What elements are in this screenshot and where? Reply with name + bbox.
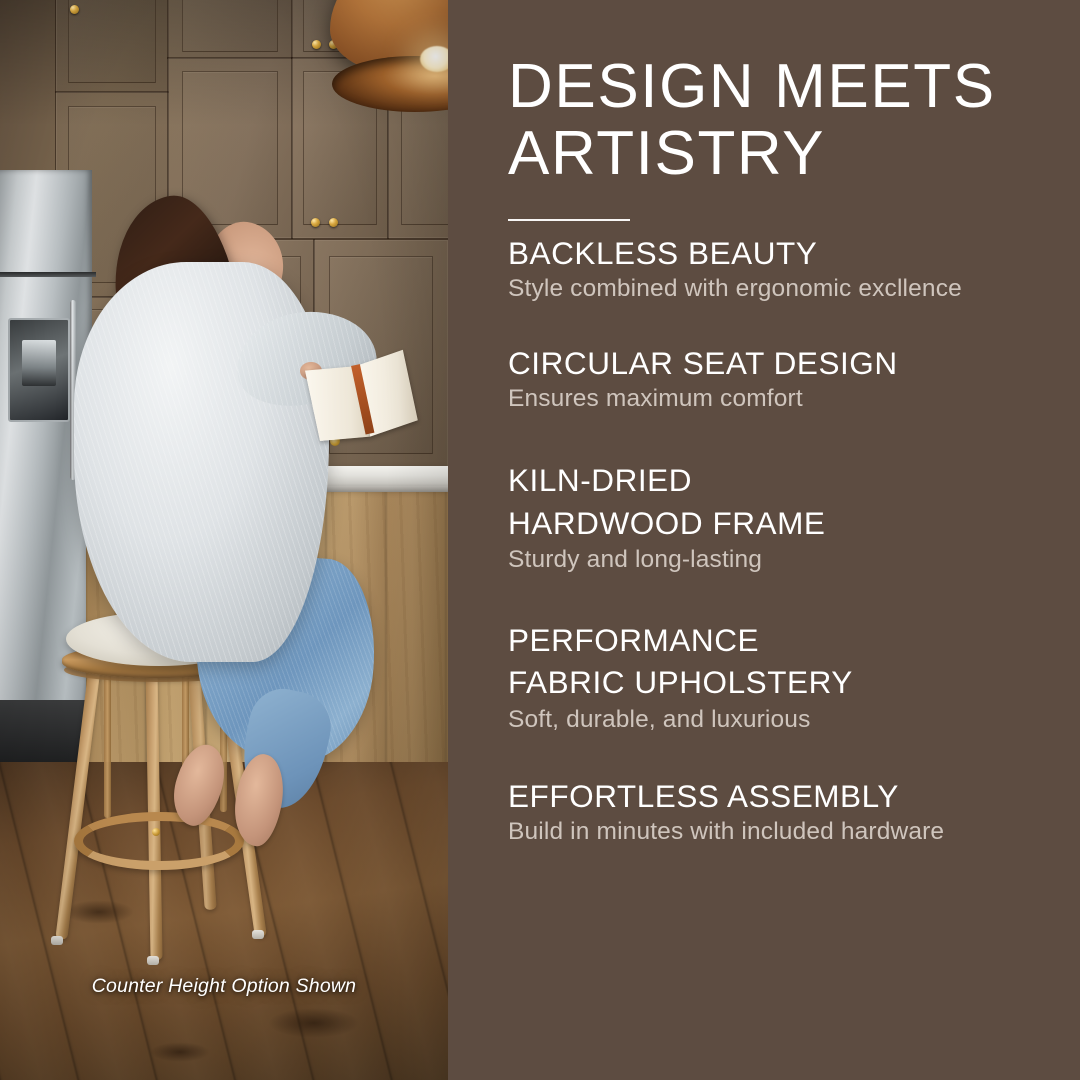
feature-item-effortless-assembly: EFFORTLESS ASSEMBLY Build in minutes wit… [508, 778, 1036, 846]
feature-heading: BACKLESS BEAUTY [508, 235, 1036, 273]
page-title: DESIGN MEETS ARTISTRY [508, 54, 1036, 188]
feature-heading: KILN-DRIED HARDWOOD FRAME [508, 459, 1036, 544]
refrigerator-water-dispenser [8, 318, 70, 422]
cabinet-door [168, 0, 292, 58]
feature-heading: CIRCULAR SEAT DESIGN [508, 345, 1036, 383]
cabinet-knob [312, 40, 321, 49]
floor-knot [64, 900, 134, 924]
feature-item-circular-seat-design: CIRCULAR SEAT DESIGN Ensures maximum com… [508, 345, 1036, 413]
floor-knot [150, 1042, 210, 1062]
stool-foot-cap [252, 930, 264, 939]
footrest-rivet [152, 828, 160, 836]
stool-footrest-ring [74, 812, 244, 870]
feature-heading: PERFORMANCE FABRIC UPHOLSTERY [508, 619, 1036, 704]
product-lifestyle-photo: Counter Height Option Shown [0, 0, 448, 1080]
lightbulb-icon [420, 46, 448, 72]
cabinet-knob [70, 5, 79, 14]
feature-item-performance-fabric-upholstery: PERFORMANCE FABRIC UPHOLSTERY Soft, dura… [508, 619, 1036, 734]
feature-subtext: Ensures maximum comfort [508, 384, 1036, 413]
cabinet-knob [329, 218, 338, 227]
title-divider [508, 219, 630, 221]
stool-foot-cap [51, 936, 63, 945]
stool-foot-cap [147, 956, 159, 965]
product-feature-poster: Counter Height Option Shown DESIGN MEETS… [0, 0, 1080, 1080]
feature-subtext: Style combined with ergonomic excllence [508, 274, 1036, 303]
feature-item-kiln-dried-hardwood-frame: KILN-DRIED HARDWOOD FRAME Sturdy and lon… [508, 459, 1036, 574]
cabinet-knob [311, 218, 320, 227]
feature-subtext: Build in minutes with included hardware [508, 817, 1036, 846]
feature-subtext: Sturdy and long-lasting [508, 545, 1036, 574]
feature-item-backless-beauty: BACKLESS BEAUTY Style combined with ergo… [508, 235, 1036, 303]
refrigerator-door-seam [0, 272, 96, 277]
feature-subtext: Soft, durable, and luxurious [508, 705, 1036, 734]
floor-knot [268, 1008, 360, 1038]
photo-caption: Counter Height Option Shown [0, 975, 448, 998]
stool-back-slat [104, 672, 111, 818]
feature-heading: EFFORTLESS ASSEMBLY [508, 778, 1036, 816]
feature-text-panel: DESIGN MEETS ARTISTRY BACKLESS BEAUTY St… [448, 0, 1080, 1080]
